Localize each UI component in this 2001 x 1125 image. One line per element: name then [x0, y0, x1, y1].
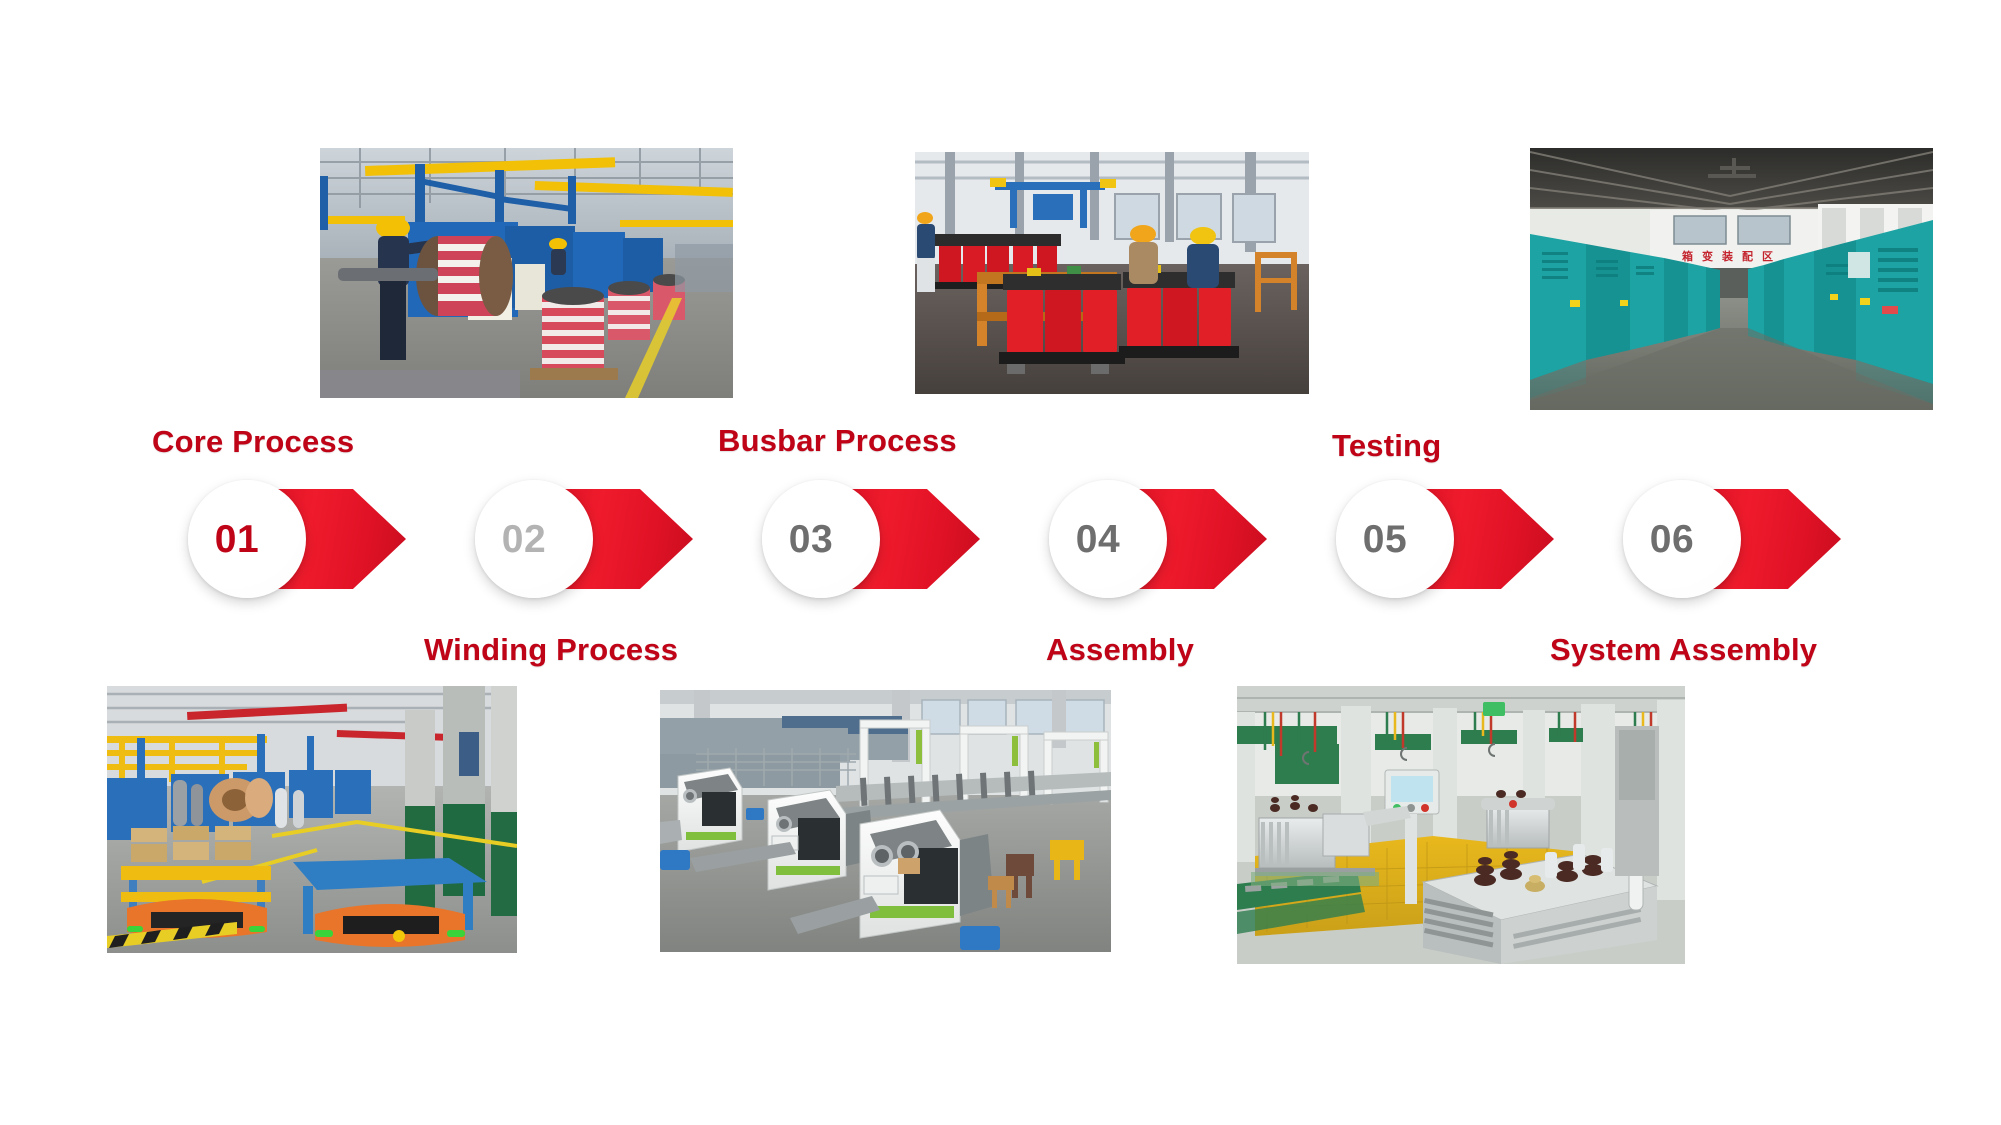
- core-process-scene: [320, 148, 733, 398]
- winding-process-scene: [107, 686, 517, 953]
- step-marker-06[interactable]: 06: [1623, 480, 1841, 598]
- step-disc-06: 06: [1623, 480, 1741, 598]
- svg-text:箱: 箱: [1682, 249, 1693, 263]
- photo-testing: 箱变装配区: [1530, 148, 1933, 410]
- step-number-01: 01: [215, 520, 259, 559]
- svg-text:区: 区: [1762, 250, 1773, 263]
- photo-winding-process: [107, 686, 517, 953]
- step-number-06: 06: [1650, 520, 1694, 559]
- system-assembly-scene: [1237, 686, 1685, 964]
- photo-busbar-process: [915, 152, 1309, 394]
- step-marker-04[interactable]: 04: [1049, 480, 1267, 598]
- step-disc-03: 03: [762, 480, 880, 598]
- assembly-scene: [660, 690, 1111, 952]
- step-number-03: 03: [789, 520, 833, 559]
- step-disc-05: 05: [1336, 480, 1454, 598]
- step-marker-05[interactable]: 05: [1336, 480, 1554, 598]
- step-label-winding-process: Winding Process: [424, 632, 678, 668]
- step-label-system-assembly: System Assembly: [1550, 632, 1817, 668]
- step-label-core-process: Core Process: [152, 424, 354, 460]
- busbar-process-scene: [915, 152, 1309, 394]
- svg-text:配: 配: [1742, 249, 1753, 263]
- svg-text:变: 变: [1702, 249, 1713, 263]
- step-number-02: 02: [502, 520, 546, 559]
- photo-assembly: [660, 690, 1111, 952]
- step-label-testing: Testing: [1332, 428, 1441, 464]
- step-marker-03[interactable]: 03: [762, 480, 980, 598]
- step-number-05: 05: [1363, 520, 1407, 559]
- step-number-04: 04: [1076, 520, 1120, 559]
- step-label-busbar-process: Busbar Process: [718, 423, 957, 459]
- step-label-assembly: Assembly: [1046, 632, 1194, 668]
- step-disc-01: 01: [188, 480, 306, 598]
- photo-core-process: [320, 148, 733, 398]
- step-disc-04: 04: [1049, 480, 1167, 598]
- photo-system-assembly: [1237, 686, 1685, 964]
- step-marker-02[interactable]: 02: [475, 480, 693, 598]
- svg-text:装: 装: [1721, 249, 1733, 263]
- step-marker-01[interactable]: 01: [188, 480, 406, 598]
- testing-scene: 箱变装配区: [1530, 148, 1933, 410]
- step-disc-02: 02: [475, 480, 593, 598]
